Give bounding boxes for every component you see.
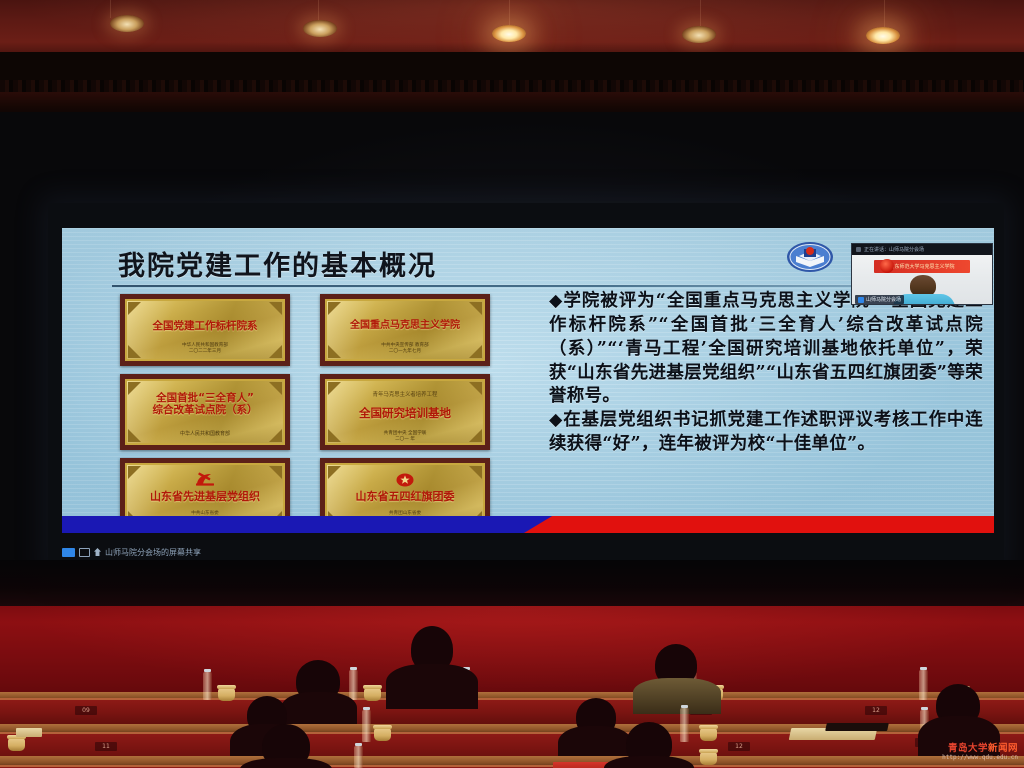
plaque-headline: 青年马克思主义者培养工程 [325, 392, 485, 399]
video-inset-titlebar: 正在讲话：山师马院分会场 [852, 244, 992, 255]
desk-number-plate: 11 [95, 742, 117, 751]
ceiling-light [110, 15, 144, 32]
light-wire [884, 0, 885, 28]
teacup [700, 728, 717, 741]
light-wire [318, 0, 319, 22]
audience-person [240, 758, 332, 768]
award-plaque: 全国首批“三全育人” 综合改革试点院（系） 中华人民共和国教育部 [120, 374, 290, 450]
league-emblem-icon [880, 259, 894, 273]
watermark-url: http://www.qdu.edu.cn [942, 755, 1018, 762]
water-bottle [919, 670, 928, 700]
slide-footer-bar-blue [62, 516, 584, 533]
slide-footer-bar-red [524, 516, 994, 533]
teacup-lid [373, 725, 392, 729]
ceiling-light [492, 25, 526, 42]
bottle-cap [363, 707, 370, 710]
plaque-title: 全国研究培训基地 [325, 407, 485, 421]
teacup [700, 752, 717, 765]
slide-title: 我院党建工作的基本概况 [118, 244, 437, 283]
menu-icon[interactable] [856, 247, 861, 252]
upload-icon[interactable] [94, 548, 101, 556]
plaque-subtitle: 中共中央宣传部 教育部 二〇一九年七月 [325, 343, 485, 355]
light-wire [509, 0, 510, 26]
bottle-cap [350, 667, 357, 670]
paper-document [16, 728, 42, 737]
audience-person [386, 664, 478, 709]
bottle-cap [920, 667, 927, 670]
plaque-subtitle: 中华人民共和国教育部 [125, 431, 285, 438]
plaque-title: 山东省五四红旗团委 [325, 491, 485, 504]
paper-document [825, 723, 889, 731]
plaque-title: 全国重点马克思主义学院 [325, 320, 485, 332]
audience-person [604, 756, 694, 768]
watermark-university: 青岛大学 [948, 743, 988, 754]
water-bottle [362, 710, 371, 742]
screen-share-label: 山师马院分会场的屏幕共享 [105, 547, 201, 558]
desk-number-plate: 12 [865, 706, 887, 715]
water-bottle [354, 746, 363, 768]
screen-share-status-bar: 山师马院分会场的屏幕共享 [62, 545, 201, 559]
teacup-lid [363, 685, 382, 689]
teacup [374, 728, 391, 741]
award-plaque: 全国重点马克思主义学院 中共中央宣传部 教育部 二〇一九年七月 [320, 294, 490, 366]
name-card [553, 762, 609, 768]
youth-league-emblem-icon [395, 472, 415, 488]
bottle-cap [204, 669, 211, 672]
watermark: 青岛大学新闻网 http://www.qdu.edu.cn [942, 744, 1018, 762]
audience-person [633, 678, 721, 714]
university-emblem-icon [786, 240, 834, 274]
teacup-lid [217, 685, 236, 689]
desk-number-plate: 12 [728, 742, 750, 751]
body-paragraph-2: ◆在基层党组织书记抓党建工作述职评议考核工作中连续获得“好”，连年被评为校“十佳… [549, 409, 983, 457]
plaque-subtitle: 共青团中央 全国学联 二〇一 年 [325, 431, 485, 443]
watermark-section: 新闻网 [988, 743, 1018, 754]
plaque-column-right: 全国重点马克思主义学院 中共中央宣传部 教育部 二〇一九年七月 青年马克思主义者… [320, 294, 490, 532]
video-participant-label: 山师马院分会场 [855, 295, 904, 304]
party-hammer-sickle-icon [194, 472, 216, 488]
bottle-cap [921, 707, 928, 710]
teacup [8, 738, 25, 751]
slide-body-text: ◆学院被评为“全国重点马克思主义学院”“全国党建工作标杆院系”“全国首批‘三全育… [549, 290, 983, 457]
ceiling-light [866, 27, 900, 44]
ceiling-light [682, 26, 716, 43]
speaker-icon [858, 297, 864, 303]
bottle-cap [355, 743, 362, 746]
teacup-lid [699, 725, 718, 729]
plaque-subtitle: 中华人民共和国教育部 二〇二二年三月 [125, 343, 285, 355]
light-wire [110, 0, 111, 18]
plaque-title: 全国党建工作标杆院系 [125, 320, 285, 332]
teacup-lid [699, 749, 718, 753]
teacup [364, 688, 381, 701]
monitor-icon[interactable] [79, 548, 90, 557]
light-wire [700, 0, 701, 26]
award-plaque: 全国党建工作标杆院系 中华人民共和国教育部 二〇二二年三月 [120, 294, 290, 366]
video-inset-title: 正在讲话：山师马院分会场 [864, 246, 924, 253]
plaque-title: 山东省先进基层党组织 [125, 491, 285, 504]
stage-floor-shadow [0, 560, 1024, 610]
bottle-cap [681, 705, 688, 708]
teacup [218, 688, 235, 701]
auditorium-photo: 我院党建工作的基本概况 全国党建工作标杆院系 中华人民共和国教育部 二〇二二年三… [0, 0, 1024, 768]
video-participant-name: 山师马院分会场 [866, 296, 901, 303]
water-bottle [349, 670, 358, 700]
auditorium-seating: 09 10 11 12 11 12 13 [0, 606, 1024, 768]
plaque-title: 全国首批“三全育人” 综合改革试点院（系） [125, 392, 285, 417]
video-feed: 山东师范大学马克思主义学院 山师马院分会场 [852, 255, 992, 305]
video-conference-inset[interactable]: 正在讲话：山师马院分会场 山东师范大学马克思主义学院 山师马院分会场 [851, 243, 993, 305]
body-paragraph-1: ◆学院被评为“全国重点马克思主义学院”“全国党建工作标杆院系”“全国首批‘三全育… [549, 290, 983, 409]
award-plaque: 青年马克思主义者培养工程 全国研究培训基地 共青团中央 全国学联 二〇一 年 [320, 374, 490, 450]
ceiling-light [303, 20, 337, 37]
water-bottle [680, 708, 689, 742]
desk-number-plate: 09 [75, 706, 97, 715]
water-bottle [203, 672, 212, 700]
title-underline [112, 285, 930, 287]
plaque-column-left: 全国党建工作标杆院系 中华人民共和国教育部 二〇二二年三月 全国首批“三全育人”… [120, 294, 290, 532]
share-screen-icon[interactable] [62, 548, 75, 557]
